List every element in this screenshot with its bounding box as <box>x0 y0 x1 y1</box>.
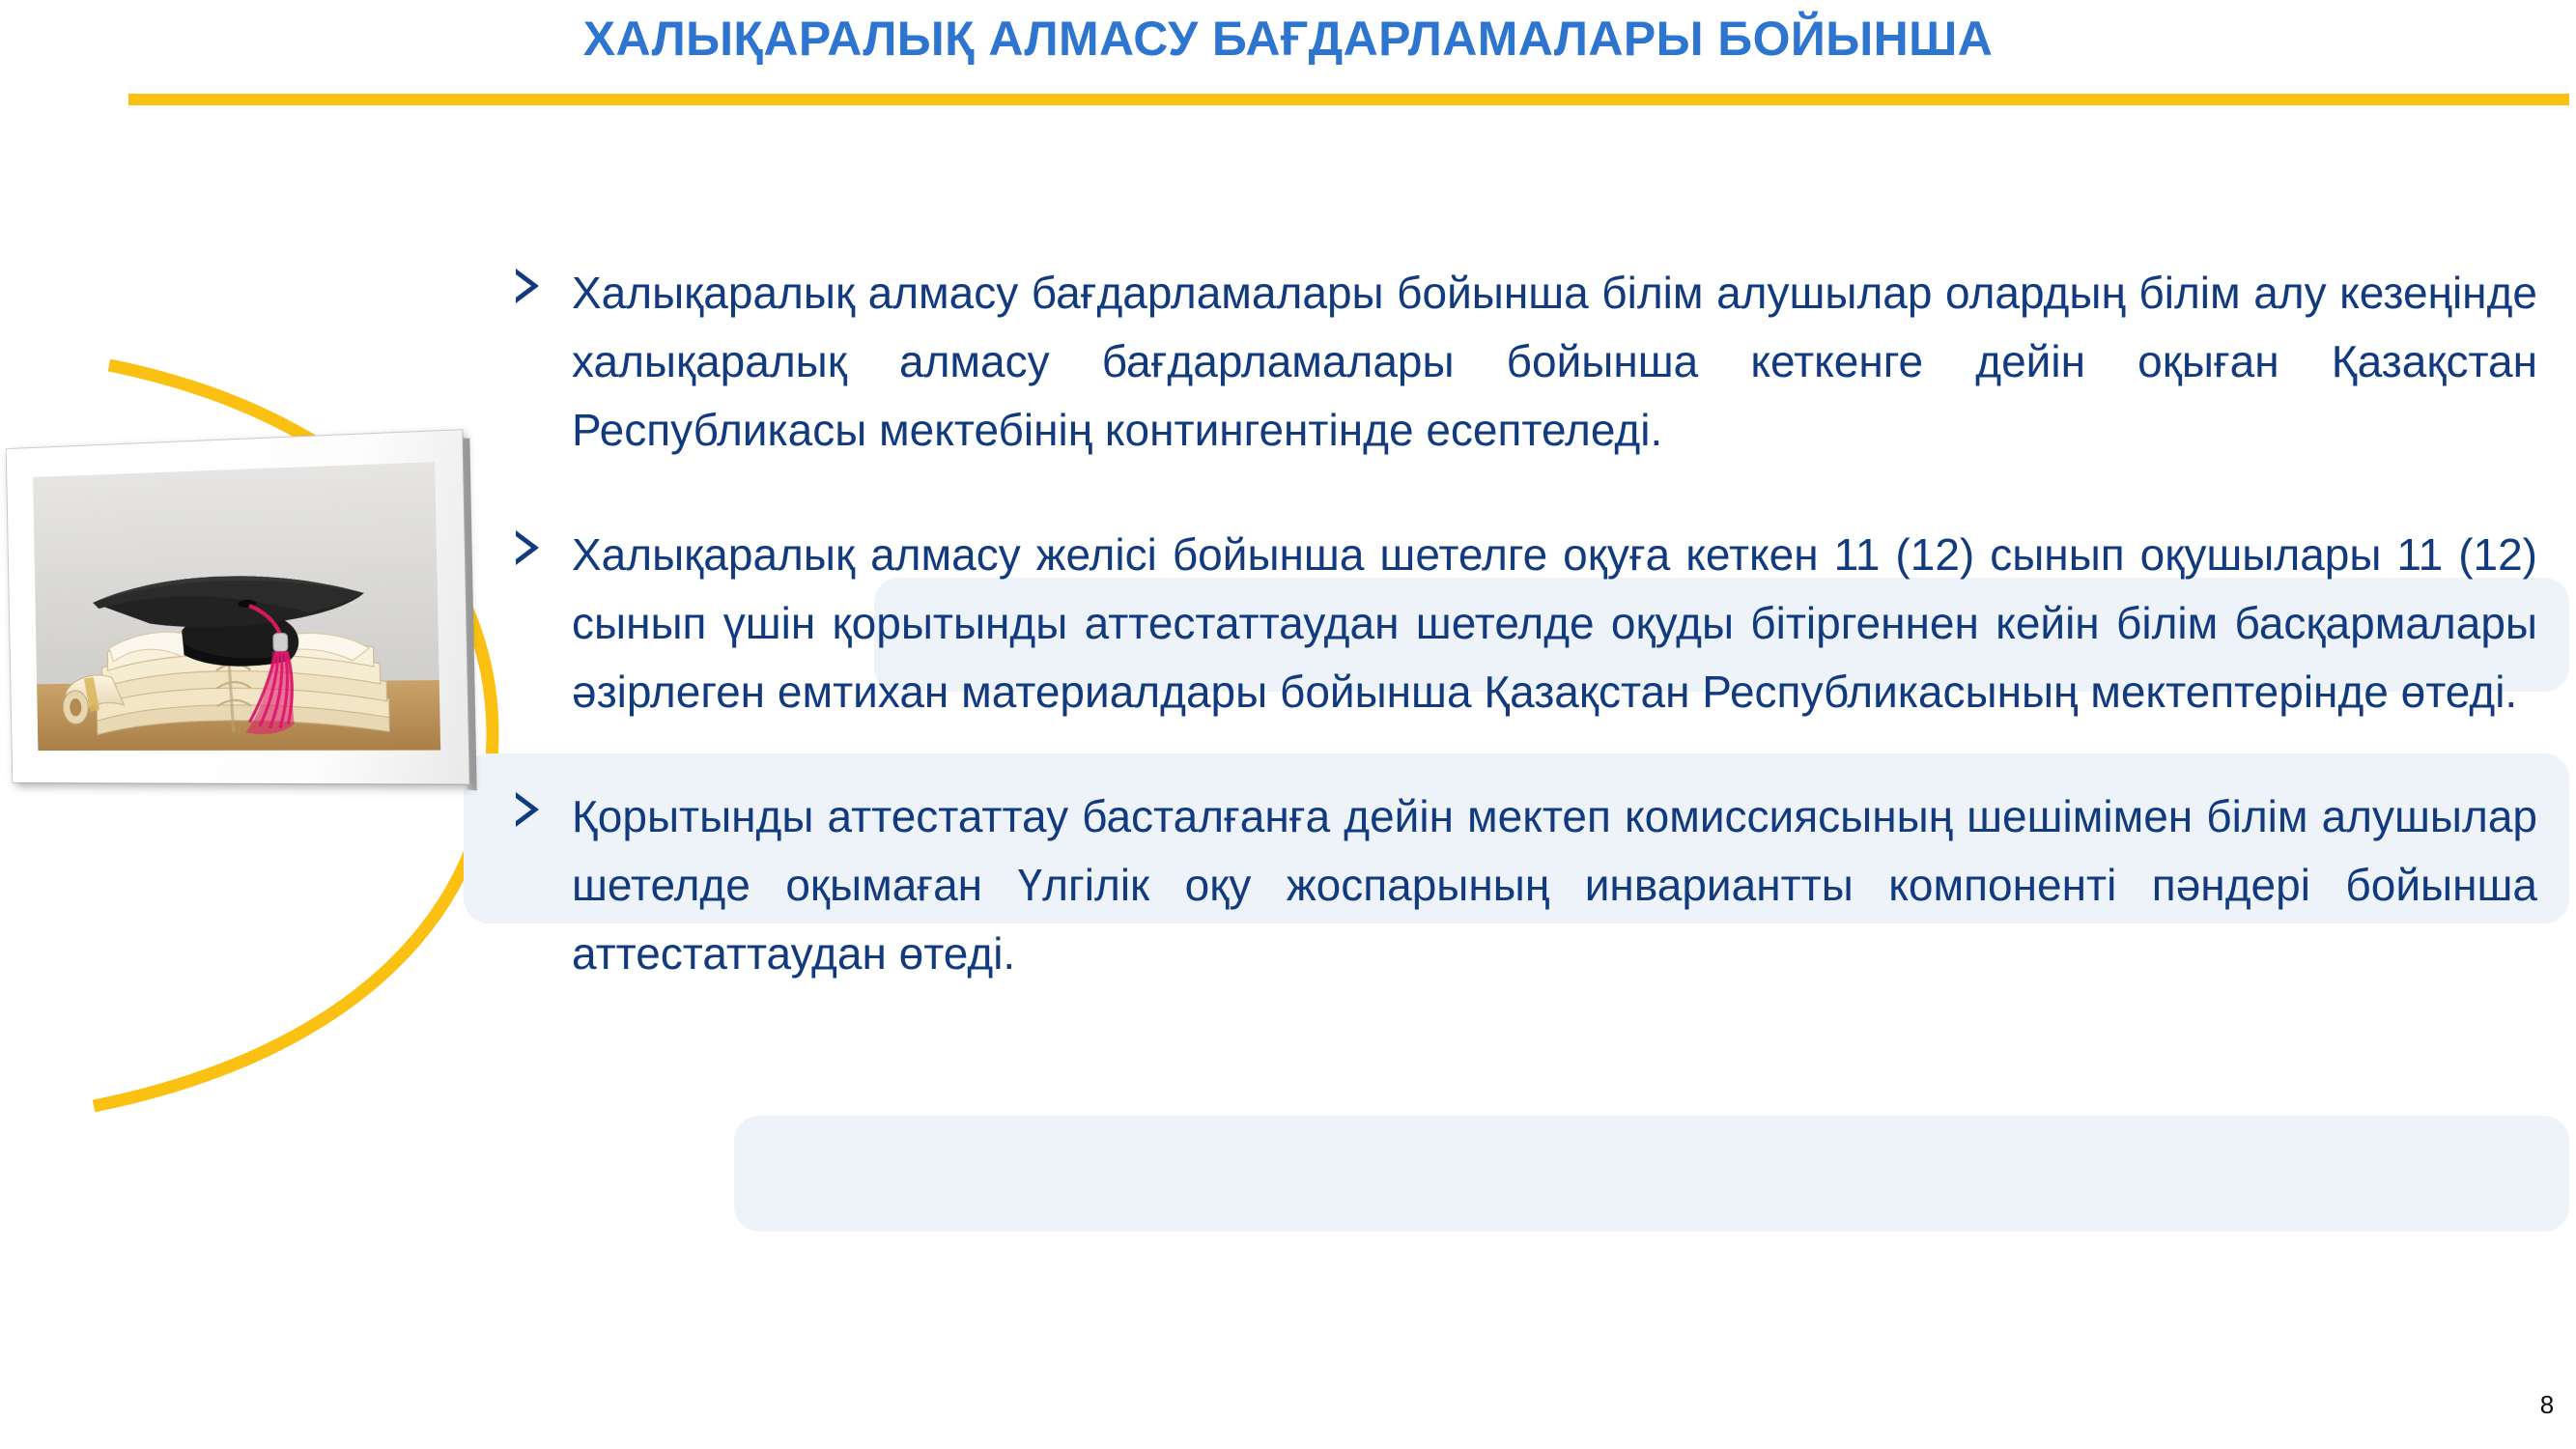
bullet-paragraph-1: Халықаралық алмасу бағдарламалары бойынш… <box>504 259 2537 465</box>
bullet-arrow-icon <box>504 784 551 835</box>
slide-body: Халықаралық алмасу бағдарламалары бойынш… <box>504 259 2537 988</box>
paragraph-3-text: Қорытынды аттестаттау басталғанға дейін … <box>572 791 2537 979</box>
page-number: 8 <box>2523 1389 2571 1420</box>
paragraph-1-text: Халықаралық алмасу бағдарламалары бойынш… <box>572 268 2537 455</box>
title-underline-rule <box>128 94 2569 105</box>
highlight-panel-3 <box>734 1116 2569 1232</box>
slide-header: ХАЛЫҚАРАЛЫҚ АЛМАСУ БАҒДАРЛАМАЛАРЫ БОЙЫНШ… <box>0 0 2576 118</box>
bullet-arrow-icon <box>504 523 551 573</box>
bullet-arrow-icon <box>504 261 551 311</box>
graduation-cap-on-books-photo <box>33 462 440 751</box>
bullet-paragraph-2: Халықаралық алмасу желісі бойынша шетелг… <box>504 521 2537 726</box>
bullet-paragraph-3: Қорытынды аттестаттау басталғанға дейін … <box>504 782 2537 988</box>
slide-canvas: ХАЛЫҚАРАЛЫҚ АЛМАСУ БАҒДАРЛАМАЛАРЫ БОЙЫНШ… <box>0 0 2576 1449</box>
page-title: ХАЛЫҚАРАЛЫҚ АЛМАСУ БАҒДАРЛАМАЛАРЫ БОЙЫНШ… <box>0 8 2576 70</box>
paragraph-2-text: Халықаралық алмасу желісі бойынша шетелг… <box>572 529 2537 717</box>
graduation-photo-frame <box>7 430 469 783</box>
